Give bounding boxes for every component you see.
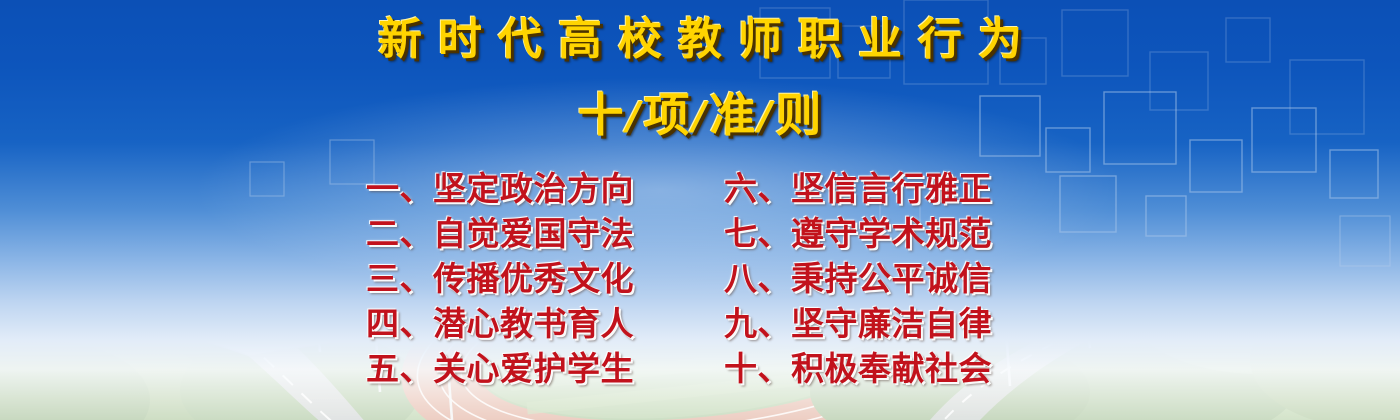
pledge-index: 五、 bbox=[366, 346, 433, 391]
banner-content: 新时代高校教师职业行为 十/项/准/则 一、坚定政治方向 二、自觉爱国守法 三、… bbox=[0, 0, 1400, 420]
pledge-item: 九、坚守廉洁自律 bbox=[724, 301, 1034, 346]
pledge-item: 二、自觉爱国守法 bbox=[366, 211, 676, 256]
pledge-text: 坚守廉洁自律 bbox=[791, 304, 992, 343]
pledge-item: 三、传播优秀文化 bbox=[366, 256, 676, 301]
pledge-index: 八、 bbox=[724, 256, 791, 301]
pledge-index: 七、 bbox=[724, 211, 791, 256]
subtitle-part-1: 十 bbox=[578, 88, 625, 142]
pledge-item: 八、秉持公平诚信 bbox=[724, 256, 1034, 301]
pledge-text: 坚定政治方向 bbox=[433, 169, 634, 208]
pledge-banner: 新时代高校教师职业行为 十/项/准/则 一、坚定政治方向 二、自觉爱国守法 三、… bbox=[0, 0, 1400, 420]
pledge-item: 六、坚信言行雅正 bbox=[724, 166, 1034, 211]
pledge-list: 一、坚定政治方向 二、自觉爱国守法 三、传播优秀文化 四、潜心教书育人 五、关心… bbox=[0, 166, 1400, 391]
subtitle-separator-3: / bbox=[756, 89, 775, 143]
pledge-index: 九、 bbox=[724, 301, 791, 346]
pledge-text: 潜心教书育人 bbox=[433, 304, 634, 343]
pledge-column-left: 一、坚定政治方向 二、自觉爱国守法 三、传播优秀文化 四、潜心教书育人 五、关心… bbox=[366, 166, 676, 391]
pledge-item: 七、遵守学术规范 bbox=[724, 211, 1034, 256]
pledge-text: 积极奉献社会 bbox=[791, 349, 992, 388]
subtitle-part-3: 准 bbox=[709, 88, 756, 142]
pledge-text: 坚信言行雅正 bbox=[791, 169, 992, 208]
subtitle-separator-1: / bbox=[625, 89, 644, 143]
page-subtitle: 十/项/准/则 bbox=[0, 88, 1400, 145]
pledge-item: 一、坚定政治方向 bbox=[366, 166, 676, 211]
pledge-item: 五、关心爱护学生 bbox=[366, 346, 676, 391]
pledge-text: 秉持公平诚信 bbox=[791, 259, 992, 298]
subtitle-part-2: 项 bbox=[644, 88, 691, 142]
pledge-index: 三、 bbox=[366, 256, 433, 301]
pledge-text: 自觉爱国守法 bbox=[433, 214, 634, 253]
pledge-text: 遵守学术规范 bbox=[791, 214, 992, 253]
subtitle-part-4: 则 bbox=[775, 88, 822, 142]
pledge-text: 关心爱护学生 bbox=[433, 349, 634, 388]
pledge-index: 十、 bbox=[724, 346, 791, 391]
pledge-index: 六、 bbox=[724, 166, 791, 211]
pledge-column-right: 六、坚信言行雅正 七、遵守学术规范 八、秉持公平诚信 九、坚守廉洁自律 十、积极… bbox=[724, 166, 1034, 391]
pledge-item: 四、潜心教书育人 bbox=[366, 301, 676, 346]
pledge-index: 四、 bbox=[366, 301, 433, 346]
pledge-index: 二、 bbox=[366, 211, 433, 256]
pledge-item: 十、积极奉献社会 bbox=[724, 346, 1034, 391]
pledge-index: 一、 bbox=[366, 166, 433, 211]
subtitle-separator-2: / bbox=[691, 89, 710, 143]
page-title: 新时代高校教师职业行为 bbox=[0, 14, 1400, 66]
pledge-text: 传播优秀文化 bbox=[433, 259, 634, 298]
